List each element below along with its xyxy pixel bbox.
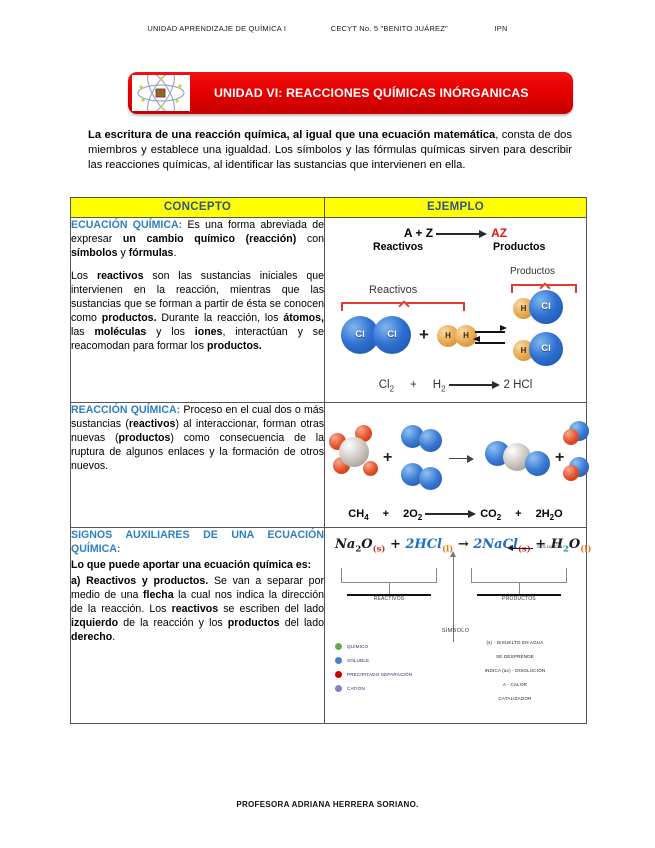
generic-equation-right: AZ — [491, 226, 507, 240]
formula-h2: H — [433, 379, 441, 391]
concept-cell-ecuacion-quimica: ECUACIÓN QUÍMICA: Es una forma abreviada… — [71, 218, 325, 403]
formula-cl2: Cl — [379, 379, 390, 391]
formula-co2: CO — [480, 508, 497, 520]
formula-hcl: Cl2+H22 HCl — [325, 379, 586, 393]
plus-symbol: + — [383, 449, 392, 467]
r1-p2-i: y los — [146, 326, 195, 338]
equilibrium-arrows-icon — [475, 328, 507, 350]
combustion-diagram: + + — [325, 403, 586, 527]
formula-arrow-icon — [425, 510, 477, 517]
legend-item: SE DESPRENDE — [453, 654, 577, 668]
r2-text-d: productos — [119, 432, 171, 444]
r3-p2-l: . — [112, 631, 115, 643]
eq-arrow: → — [458, 537, 469, 552]
r3-p2-h: de la reacción y los — [118, 617, 228, 629]
formula-plus: + — [410, 379, 417, 391]
reaction-arrow-icon — [449, 455, 475, 463]
label-productos-top: Productos — [493, 241, 545, 253]
r1-p2-b: reactivos — [97, 270, 144, 282]
equation-diagram-1: A + ZAZ Reactivos Productos Reactivos Pr… — [325, 218, 586, 402]
generic-equation: A + ZAZ — [325, 226, 586, 240]
table-row: SIGNOS AUXILIARES DE UNA ECUACIÓN QUÍMIC… — [71, 528, 587, 724]
r1-text-f: fórmulas — [129, 247, 174, 259]
r3-p2-j: del lado — [280, 617, 324, 629]
eq-plus-1: + — [390, 537, 401, 552]
header-right-text: IPN — [494, 24, 507, 33]
r1-p2-j: iones — [195, 326, 223, 338]
atom-sphere-cl: Cl — [373, 316, 411, 354]
legend-left-column: QUÍMICO SOLUBLE PRECIPITADO SEPARACIÓN — [335, 640, 455, 696]
formula-co2-sub: 2 — [497, 513, 501, 522]
plus-symbol: + — [555, 449, 564, 467]
formula-h2o: 2H — [536, 508, 550, 520]
group-label-reactivos: REACTIVOS — [341, 596, 437, 602]
r1-p2-h: moléculas — [94, 326, 146, 338]
legend-label: QUÍMICO — [347, 644, 368, 649]
legend-right-column: (s) - DISUELTO EN AGUA SE DESPRENDE INDI… — [453, 640, 577, 710]
formula-h2o-tail: O — [554, 508, 563, 520]
header-center-text: CECYT No. 5 "BENITO JUÁREZ" — [331, 24, 448, 33]
header-left-text: UNIDAD APRENDIZAJE DE QUÍMICA I — [147, 24, 286, 33]
r2-text-b: reactivos — [129, 418, 176, 430]
brace-reactivos-icon — [341, 302, 465, 311]
legend-dot-icon — [335, 643, 342, 650]
formula-cl2-sub: 2 — [390, 384, 394, 393]
legend-label: SOLUBLE — [347, 658, 369, 663]
r3-p2-k: derecho — [71, 631, 112, 643]
generic-equation-left: A + Z — [404, 226, 433, 240]
r3-p2-g: izquierdo — [71, 617, 118, 629]
plus-symbol: + — [419, 325, 429, 345]
eq-h2o-state: (l) — [580, 545, 591, 555]
column-header-ejemplo: EJEMPLO — [325, 198, 587, 218]
legend-item: CATIÓN — [335, 682, 455, 696]
eq-na2o-state: (s) — [373, 545, 386, 555]
diagram-label-reactivos: Reactivos — [369, 284, 417, 296]
r3-p2-e: reactivos — [172, 603, 219, 615]
footer-text: PROFESORA ADRIANA HERRERA SORIANO. — [0, 800, 655, 809]
r3-p2-f: se escriben del lado — [218, 603, 324, 615]
annotated-equation-diagram: Na2O(s) + 2HCl(l) → 2NaCl(s) + H2O(l) SO… — [325, 528, 586, 723]
r1-text-g: . — [173, 247, 176, 259]
example-cell-reaccion-quimica: + + — [325, 403, 587, 528]
formula-ch4: CH — [348, 508, 364, 520]
r1-text-e: y — [118, 247, 129, 259]
group-label-productos: PRODUCTOS — [471, 596, 567, 602]
banner-title: UNIDAD VI: REACCIONES QUÍMICAS INÓRGANIC… — [214, 72, 565, 114]
eq-h2o-b: O — [569, 537, 580, 552]
legend-item: A - CALOR — [453, 682, 577, 696]
legend-item: QUÍMICO — [335, 640, 455, 654]
formula-plus-2: + — [515, 508, 521, 520]
r3-p2-a: a) Reactivos y productos. — [71, 575, 208, 587]
legend-item: SOLUBLE — [335, 654, 455, 668]
r3-p2-i: productos — [228, 617, 280, 629]
r1-p2-l: productos. — [207, 340, 262, 352]
reaction-arrow-icon — [436, 230, 488, 237]
eq-na2o-b: O — [361, 537, 372, 552]
r1-p2-e: Durante la reacción, los — [157, 312, 284, 324]
r1-p2-f: átomos, — [283, 312, 324, 324]
example-cell-ecuacion-quimica: A + ZAZ Reactivos Productos Reactivos Pr… — [325, 218, 587, 403]
r1-p2-a: Los — [71, 270, 97, 282]
formula-product: 2 HCl — [504, 379, 533, 391]
r1-text-b: un cambio químico (reacción) — [123, 233, 296, 245]
annotation-arrow-icon — [507, 545, 533, 552]
atom-sphere-cl: Cl — [529, 290, 563, 324]
eq-hcl: 2HCl — [405, 537, 442, 552]
concept-cell-reaccion-quimica: REACCIÓN QUÍMICA: Proceso en el cual dos… — [71, 403, 325, 528]
legend-dot-icon — [335, 685, 342, 692]
legend-label: PRECIPITADO SEPARACIÓN — [347, 672, 412, 677]
r3-p2-c: flecha — [143, 589, 174, 601]
column-header-concepto: CONCEPTO — [71, 198, 325, 218]
annotation-label: SOLUCIÓN — [537, 544, 563, 549]
formula-o2: 2O — [403, 508, 418, 520]
formula-o2-sub: 2 — [418, 513, 422, 522]
term-signos-auxiliares: SIGNOS AUXILIARES DE UNA ECUACIÓN QUÍMIC… — [71, 529, 324, 555]
intro-lead: La escritura de una reacción química, al… — [88, 129, 495, 141]
term-ecuacion-quimica: ECUACIÓN QUÍMICA: — [71, 219, 182, 231]
middle-label: SÍMBOLO — [325, 628, 586, 634]
intro-paragraph: La escritura de una reacción química, al… — [88, 128, 572, 174]
diagram-label-productos: Productos — [510, 266, 555, 277]
formula-combustion: CH4+2O2CO2+2H2O — [325, 508, 586, 522]
legend-label: CATIÓN — [347, 686, 365, 691]
table-row: ECUACIÓN QUÍMICA: Es una forma abreviada… — [71, 218, 587, 403]
formula-ch4-sub: 4 — [364, 513, 368, 522]
formula-h2-sub: 2 — [441, 384, 445, 393]
r1-text-c: con — [296, 233, 324, 245]
formula-plus-1: + — [383, 508, 389, 520]
legend-item: (s) - DISUELTO EN AGUA — [453, 640, 577, 654]
legend-item: PRECIPITADO SEPARACIÓN — [335, 668, 455, 682]
label-reactivos-top: Reactivos — [373, 241, 423, 253]
page-header: UNIDAD APRENDIZAJE DE QUÍMICA I CECYT No… — [0, 24, 655, 33]
example-cell-signos-auxiliares: Na2O(s) + 2HCl(l) → 2NaCl(s) + H2O(l) SO… — [325, 528, 587, 724]
concept-example-table: CONCEPTO EJEMPLO ECUACIÓN QUÍMICA: Es un… — [70, 197, 587, 724]
r1-p2-g: las — [71, 326, 94, 338]
formula-arrow-icon — [449, 381, 501, 388]
r1-text-d: símbolos — [71, 247, 118, 259]
legend-item: CATALIZADOR — [453, 696, 577, 710]
term-reaccion-quimica: REACCIÓN QUÍMICA: — [71, 404, 180, 416]
r3-text-a: Lo que puede aportar una ecuación químic… — [71, 559, 311, 571]
legend-item: INDICA (ac) - DISOLUCIÓN — [453, 668, 577, 682]
concept-cell-signos-auxiliares: SIGNOS AUXILIARES DE UNA ECUACIÓN QUÍMIC… — [71, 528, 325, 724]
table-row: REACCIÓN QUÍMICA: Proceso en el cual dos… — [71, 403, 587, 528]
legend-dot-icon — [335, 671, 342, 678]
eq-na2o: Na — [335, 537, 355, 552]
r1-p2-d: productos. — [102, 312, 157, 324]
atom-sphere-cl: Cl — [529, 332, 563, 366]
table-header-row: CONCEPTO EJEMPLO — [71, 198, 587, 218]
legend-dot-icon — [335, 657, 342, 664]
atom-icon — [132, 75, 190, 111]
unit-banner: UNIDAD VI: REACCIONES QUÍMICAS INÓRGANIC… — [128, 72, 573, 114]
